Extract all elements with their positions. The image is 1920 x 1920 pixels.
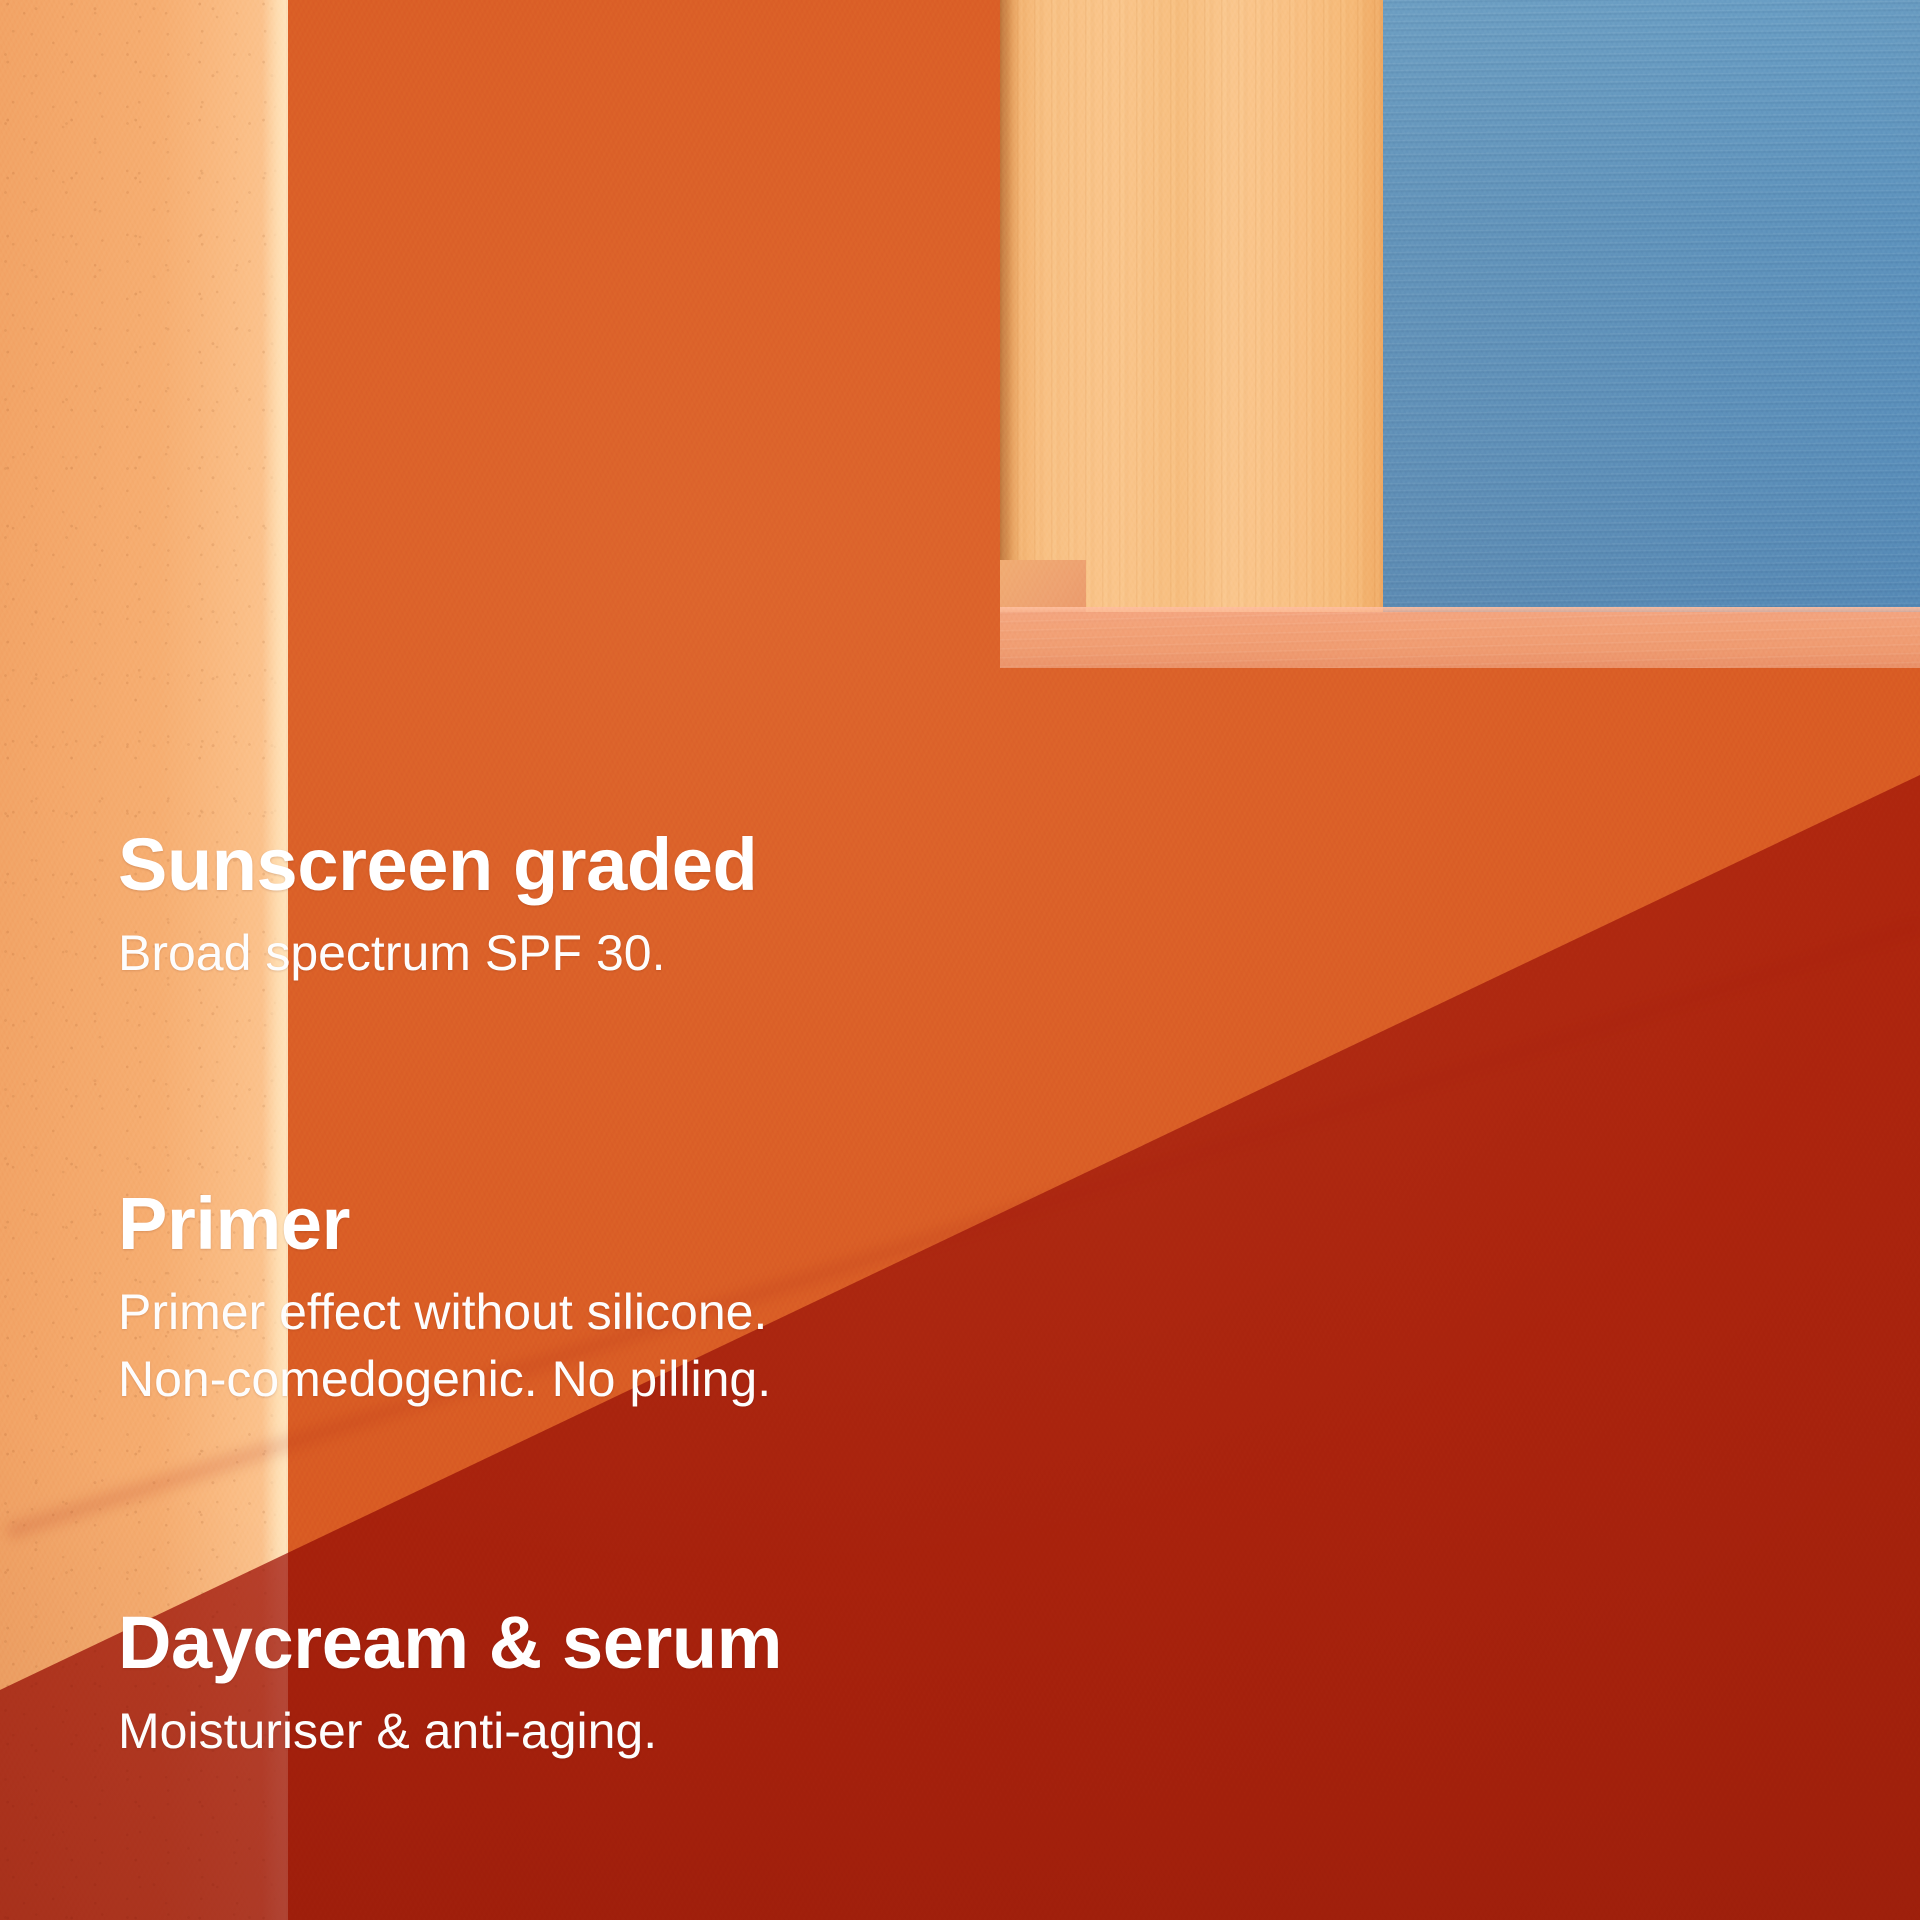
feature-subtext-sunscreen-line-1: Broad spectrum SPF 30. xyxy=(118,920,757,987)
feature-heading-daycream: Daycream & serum xyxy=(118,1604,782,1682)
feature-heading-primer: Primer xyxy=(118,1185,771,1263)
feature-subtext-primer-line-2: Non-comedogenic. No pilling. xyxy=(118,1346,771,1413)
feature-block-daycream: Daycream & serum Moisturiser & anti-agin… xyxy=(118,1604,782,1765)
feature-subtext-primer-line-1: Primer effect without silicone. xyxy=(118,1279,771,1346)
feature-subtext-daycream-line-1: Moisturiser & anti-aging. xyxy=(118,1698,782,1765)
feature-graphic: Sunscreen graded Broad spectrum SPF 30. … xyxy=(0,0,1920,1920)
feature-heading-sunscreen: Sunscreen graded xyxy=(118,826,757,904)
feature-text-overlay: Sunscreen graded Broad spectrum SPF 30. … xyxy=(0,0,1920,1920)
feature-block-primer: Primer Primer effect without silicone. N… xyxy=(118,1185,771,1413)
feature-block-sunscreen: Sunscreen graded Broad spectrum SPF 30. xyxy=(118,826,757,987)
